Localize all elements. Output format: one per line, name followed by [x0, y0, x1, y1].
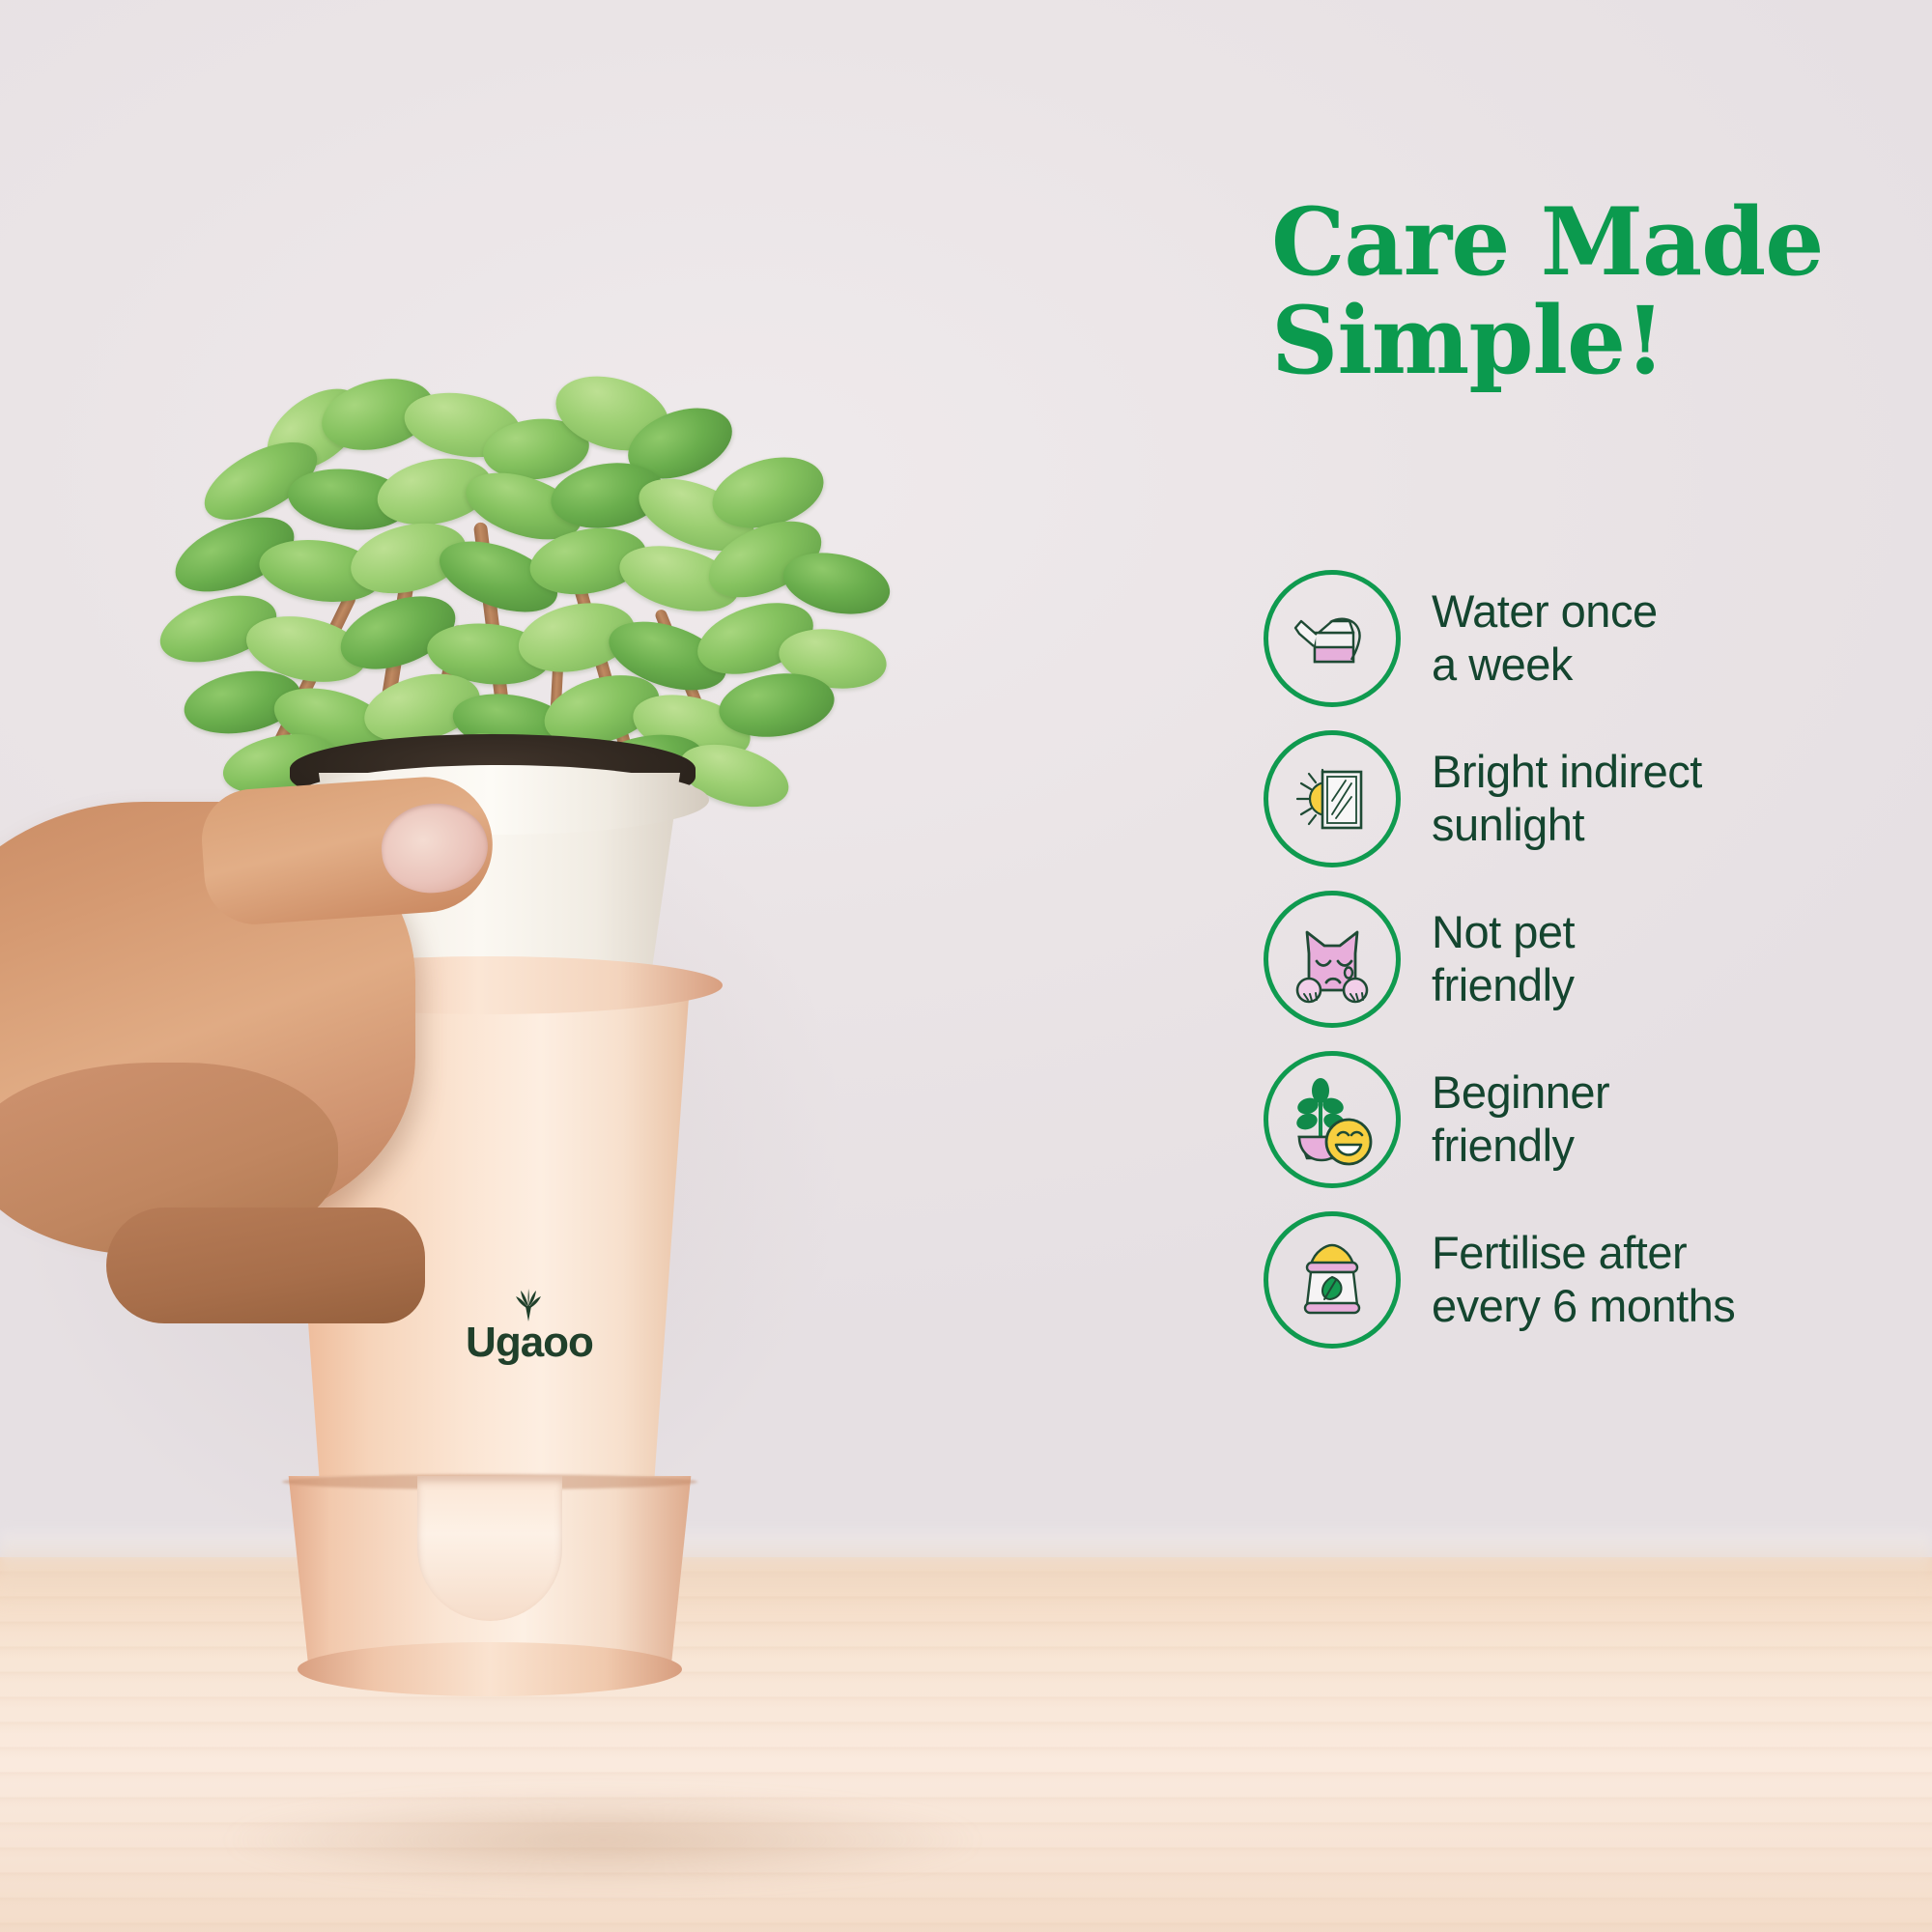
care-label-pet-line2: friendly [1432, 959, 1575, 1012]
care-panel: Care Made Simple! Water once a wee [1246, 0, 1932, 1932]
care-label-water: Water once a week [1432, 585, 1658, 692]
care-label-water-line2: a week [1432, 639, 1658, 692]
care-label-pet: Not pet friendly [1432, 906, 1575, 1012]
sad-cat-icon [1284, 911, 1380, 1008]
care-label-beginner-line1: Beginner [1432, 1066, 1609, 1120]
lower-finger [106, 1207, 425, 1323]
care-item-water: Water once a week [1264, 558, 1930, 719]
care-label-fertilise-line1: Fertilise after [1432, 1227, 1735, 1280]
ugaoo-wordmark: Ugaoo [466, 1321, 593, 1364]
care-instructions-list: Water once a week [1264, 558, 1930, 1360]
care-item-pet: Not pet friendly [1264, 879, 1930, 1039]
ugaoo-brand-logo: Ugaoo [433, 1285, 626, 1368]
care-label-water-line1: Water once [1432, 585, 1658, 639]
care-item-beginner: Beginner friendly [1264, 1039, 1930, 1200]
saucer-base [298, 1642, 682, 1696]
heading-line-2: Simple! [1271, 292, 1909, 390]
care-label-fertilise: Fertilise after every 6 months [1432, 1227, 1735, 1333]
watering-can-icon [1286, 592, 1378, 685]
sad-cat-icon-circle [1264, 891, 1401, 1028]
sprout-icon [507, 1289, 552, 1321]
sun-window-icon [1286, 753, 1378, 845]
potted-plant-smiley-icon [1284, 1071, 1380, 1168]
care-label-beginner: Beginner friendly [1432, 1066, 1609, 1173]
care-label-fertilise-line2: every 6 months [1432, 1280, 1735, 1333]
hand-holding-pot [0, 744, 551, 1285]
care-label-beginner-line2: friendly [1432, 1120, 1609, 1173]
page-title: Care Made Simple! [1271, 193, 1909, 390]
fertiliser-bag-icon [1286, 1234, 1378, 1326]
fertiliser-bag-icon-circle [1264, 1211, 1401, 1349]
pot-cast-shadow [116, 1768, 1198, 1913]
care-label-pet-line1: Not pet [1432, 906, 1575, 959]
care-label-sunlight-line2: sunlight [1432, 799, 1702, 852]
care-label-sunlight: Bright indirect sunlight [1432, 746, 1702, 852]
saucer-water-notch [417, 1476, 562, 1621]
potted-plant-smiley-icon-circle [1264, 1051, 1401, 1188]
care-item-sunlight: Bright indirect sunlight [1264, 719, 1930, 879]
heading-line-1: Care Made [1271, 193, 1909, 292]
care-label-sunlight-line1: Bright indirect [1432, 746, 1702, 799]
product-care-infographic: Ugaoo Care Made Simple! [0, 0, 1932, 1932]
watering-can-icon-circle [1264, 570, 1401, 707]
care-item-fertilise: Fertilise after every 6 months [1264, 1200, 1930, 1360]
sun-window-icon-circle [1264, 730, 1401, 867]
